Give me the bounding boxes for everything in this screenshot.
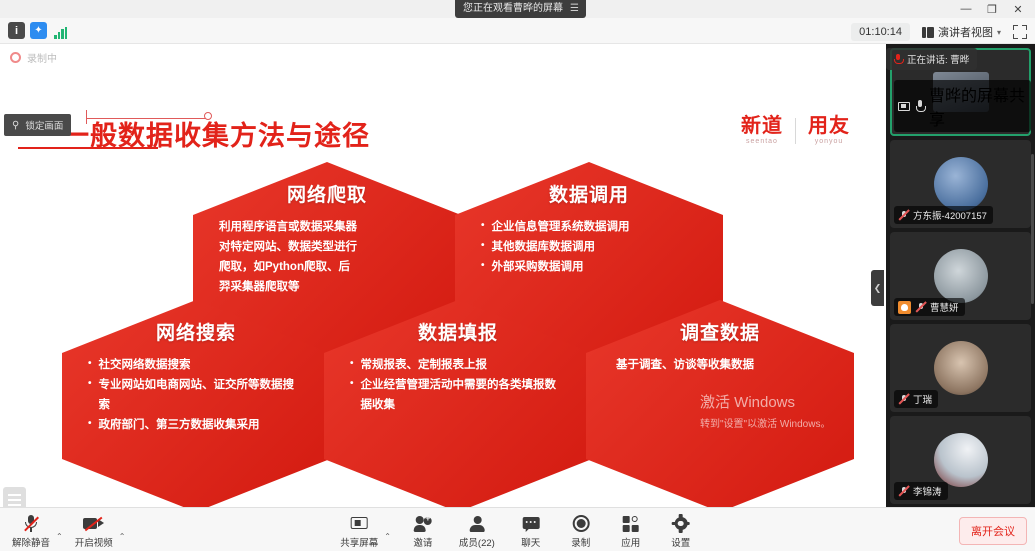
title-underline bbox=[18, 147, 158, 149]
hexagon-bullet: • 社交网络数据搜索 bbox=[88, 355, 304, 375]
brand-seentao-cn: 新道 bbox=[741, 116, 783, 137]
mic-muted-icon bbox=[898, 486, 909, 497]
meeting-timer: 01:10:14 bbox=[851, 23, 910, 41]
pin-icon: ⚲ bbox=[12, 120, 19, 131]
bullet-dot-icon: • bbox=[88, 415, 92, 433]
window-titlebar: 您正在观看曹晔的屏幕 ☰ — ❐ ✕ bbox=[0, 0, 1035, 18]
shield-icon[interactable]: ✦ bbox=[30, 22, 47, 39]
collapse-sidebar-button[interactable]: ❮ bbox=[871, 270, 884, 306]
participants-button[interactable]: 成员(22) bbox=[455, 512, 499, 551]
bullet-dot-icon: • bbox=[481, 257, 485, 275]
hexagon-bullet: • 政府部门、第三方数据收集采用 bbox=[88, 415, 304, 435]
mic-muted-icon bbox=[898, 394, 909, 405]
shared-screen-stage: 录制中 ⚲ 锁定画面 一般数据收集方法与途径 新道 seentao 用友 yon… bbox=[0, 44, 886, 507]
participants-label: 成员(22) bbox=[459, 535, 495, 549]
participant-name: 曹晔的屏幕共享 bbox=[929, 82, 1025, 130]
participant-name: 李锦涛 bbox=[913, 484, 942, 498]
bullet-text: 常规报表、定制报表上报 bbox=[361, 355, 566, 375]
record-icon bbox=[572, 514, 589, 533]
active-speaker-badge: 正在讲话: 曹晔 bbox=[886, 48, 977, 70]
tile-badge: 李锦涛 bbox=[894, 482, 948, 500]
hexagon-diagram: 网络爬取 利用程序语言或数据采集器 对特定网站、数据类型进行 爬取，如Pytho… bbox=[0, 152, 886, 507]
bullet-text: 专业网站如电商网站、证交所等数据搜索 bbox=[99, 375, 304, 415]
apps-icon bbox=[622, 514, 639, 533]
host-icon bbox=[898, 301, 911, 314]
toolbar-center-group: 共享屏幕 ⌃ 邀请 成员(22) 聊天 bbox=[336, 512, 699, 551]
brand-seentao-en: seentao bbox=[741, 138, 783, 145]
maximize-button[interactable]: ❐ bbox=[979, 0, 1005, 18]
view-mode-label: 演讲者视图 bbox=[938, 24, 993, 40]
avatar bbox=[934, 433, 988, 487]
bullet-dot-icon: • bbox=[481, 217, 485, 235]
bullet-dot-icon: • bbox=[481, 237, 485, 255]
viewing-screen-text: 您正在观看曹晔的屏幕 bbox=[463, 0, 563, 18]
apps-button[interactable]: 应用 bbox=[613, 512, 649, 551]
hexagon-bullet: • 其他数据库数据调用 bbox=[481, 237, 697, 257]
brand-yonyou: 用友 yonyou bbox=[808, 116, 850, 145]
screen-share-icon bbox=[898, 102, 910, 111]
participant-name: 丁瑞 bbox=[913, 392, 932, 406]
share-screen-button[interactable]: 共享屏幕 bbox=[336, 512, 382, 551]
fullscreen-icon[interactable] bbox=[1013, 25, 1027, 39]
video-button-label: 开启视频 bbox=[75, 535, 113, 549]
settings-button[interactable]: 设置 bbox=[663, 512, 699, 551]
hexagon-body: 利用程序语言或数据采集器 对特定网站、数据类型进行 爬取，如Python爬取、后… bbox=[193, 217, 461, 298]
bullet-dot-icon: • bbox=[88, 375, 92, 393]
close-button[interactable]: ✕ bbox=[1005, 0, 1031, 18]
info-icon[interactable]: i bbox=[8, 22, 25, 39]
bullet-text: 政府部门、第三方数据收集采用 bbox=[99, 415, 304, 435]
bullet-text: 企业经营管理活动中需要的各类填报数据收集 bbox=[361, 375, 566, 415]
hexagon-body: • 社交网络数据搜索 • 专业网站如电商网站、证交所等数据搜索 • 政府部门、第… bbox=[62, 355, 330, 436]
hexagon-title: 调查数据 bbox=[680, 318, 760, 345]
avatar bbox=[934, 157, 988, 211]
avatar bbox=[934, 249, 988, 303]
record-label: 录制 bbox=[571, 535, 590, 549]
hexagon-body: 基于调查、访谈等收集数据 bbox=[586, 355, 854, 375]
active-speaker-label: 正在讲话: 曹晔 bbox=[907, 52, 969, 66]
apps-label: 应用 bbox=[621, 535, 640, 549]
share-screen-label: 共享屏幕 bbox=[340, 535, 378, 549]
hexagon-bullet: • 外部采购数据调用 bbox=[481, 257, 697, 277]
bullet-dot-icon: • bbox=[88, 355, 92, 373]
bullet-text: 企业信息管理系统数据调用 bbox=[492, 217, 697, 237]
brand-seentao: 新道 seentao bbox=[741, 116, 783, 145]
mic-options-chevron-icon[interactable]: ⌃ bbox=[56, 532, 63, 541]
recording-label: 录制中 bbox=[27, 50, 57, 65]
lock-leader-line bbox=[86, 108, 87, 109]
participant-tile[interactable]: 曹慧妍 bbox=[890, 232, 1031, 320]
speaker-view-icon bbox=[922, 27, 934, 38]
hexagon-bullet: • 企业信息管理系统数据调用 bbox=[481, 217, 697, 237]
viewing-screen-banner: 您正在观看曹晔的屏幕 ☰ bbox=[455, 0, 586, 18]
hexagon-bullet: • 常规报表、定制报表上报 bbox=[350, 355, 566, 375]
microphone-icon bbox=[894, 54, 902, 65]
camera-muted-icon bbox=[83, 514, 104, 533]
brand-yonyou-cn: 用友 bbox=[808, 116, 850, 137]
record-button[interactable]: 录制 bbox=[563, 512, 599, 551]
hexagon-line: 羿采集器爬取等 bbox=[219, 277, 435, 297]
view-mode-selector[interactable]: 演讲者视图 ▾ bbox=[916, 21, 1007, 43]
microphone-icon bbox=[915, 100, 924, 112]
mute-button[interactable]: 解除静音 bbox=[8, 512, 54, 551]
leave-meeting-button[interactable]: 离开会议 bbox=[959, 517, 1027, 545]
chat-label: 聊天 bbox=[521, 535, 540, 549]
document-outline-icon[interactable] bbox=[3, 487, 26, 507]
mic-muted-icon bbox=[915, 302, 926, 313]
toolbar-left-group: 解除静音 ⌃ 开启视频 ⌃ bbox=[8, 512, 125, 551]
bullet-text: 其他数据库数据调用 bbox=[492, 237, 697, 257]
hexagon-line: 基于调查、访谈等收集数据 bbox=[616, 355, 824, 375]
invite-icon bbox=[414, 514, 432, 533]
hexagon-title: 网络搜索 bbox=[156, 318, 236, 345]
video-button[interactable]: 开启视频 bbox=[71, 512, 117, 551]
chat-icon bbox=[522, 514, 539, 533]
sidebar-scrollbar-thumb[interactable] bbox=[1031, 154, 1034, 304]
invite-label: 邀请 bbox=[413, 535, 432, 549]
record-dot-icon bbox=[10, 52, 21, 63]
bullet-dot-icon: • bbox=[350, 355, 354, 373]
meeting-toolbar: 解除静音 ⌃ 开启视频 ⌃ 共享屏幕 ⌃ bbox=[0, 507, 1035, 551]
hexagon-title: 数据填报 bbox=[418, 318, 498, 345]
avatar bbox=[934, 341, 988, 395]
brand-yonyou-en: yonyou bbox=[808, 138, 850, 145]
participant-tile[interactable]: 李锦涛 bbox=[890, 416, 1031, 504]
share-options-chevron-icon[interactable]: ⌃ bbox=[384, 532, 391, 541]
participant-name: 曹慧妍 bbox=[930, 300, 959, 314]
participants-sidebar: 正在讲话: 曹晔 曹晔的屏幕共享 方东振-42007157 bbox=[886, 44, 1035, 507]
banner-menu-icon[interactable]: ☰ bbox=[570, 0, 578, 18]
hexagon-bullet: • 企业经营管理活动中需要的各类填报数据收集 bbox=[350, 375, 566, 415]
chevron-down-icon: ▾ bbox=[997, 28, 1001, 37]
participant-tile[interactable]: 丁瑞 bbox=[890, 324, 1031, 412]
hexagon-title: 数据调用 bbox=[549, 180, 629, 207]
bullet-dot-icon: • bbox=[350, 375, 354, 393]
hexagon-line: 利用程序语言或数据采集器 bbox=[219, 217, 435, 237]
hexagon-line: 爬取，如Python爬取、后 bbox=[219, 257, 435, 277]
lock-screen-button[interactable]: ⚲ 锁定画面 bbox=[4, 114, 71, 136]
share-screen-icon bbox=[351, 514, 368, 533]
mute-button-label: 解除静音 bbox=[12, 535, 50, 549]
camera-options-chevron-icon[interactable]: ⌃ bbox=[119, 532, 126, 541]
tile-badge: 曹慧妍 bbox=[894, 298, 965, 316]
mic-muted-icon bbox=[23, 514, 39, 533]
tile-badge: 曹晔的屏幕共享 bbox=[894, 80, 1031, 132]
hexagon-line: 对特定网站、数据类型进行 bbox=[219, 237, 435, 257]
window-controls: — ❐ ✕ bbox=[953, 0, 1031, 18]
topbar-right-controls: 01:10:14 演讲者视图 ▾ bbox=[851, 21, 1027, 43]
bullet-text: 社交网络数据搜索 bbox=[99, 355, 304, 375]
tile-badge: 丁瑞 bbox=[894, 390, 938, 408]
hexagon-title: 网络爬取 bbox=[287, 180, 367, 207]
mic-muted-icon bbox=[898, 210, 909, 221]
settings-gear-icon bbox=[672, 514, 689, 533]
topbar-status-icons: i ✦ bbox=[8, 22, 69, 39]
recording-indicator: 录制中 bbox=[10, 50, 57, 65]
bullet-text: 外部采购数据调用 bbox=[492, 257, 697, 277]
hexagon-body: • 常规报表、定制报表上报 • 企业经营管理活动中需要的各类填报数据收集 bbox=[324, 355, 592, 415]
chat-button[interactable]: 聊天 bbox=[513, 512, 549, 551]
invite-button[interactable]: 邀请 bbox=[405, 512, 441, 551]
hexagon-bullet: • 专业网站如电商网站、证交所等数据搜索 bbox=[88, 375, 304, 415]
tile-badge: 方东振-42007157 bbox=[894, 206, 993, 224]
signal-strength-icon[interactable] bbox=[52, 22, 69, 39]
brand-logos: 新道 seentao 用友 yonyou bbox=[741, 116, 850, 145]
hexagon-body: • 企业信息管理系统数据调用 • 其他数据库数据调用 • 外部采购数据调用 bbox=[455, 217, 723, 277]
brand-divider bbox=[795, 118, 796, 144]
participant-name: 方东振-42007157 bbox=[913, 208, 987, 222]
minimize-button[interactable]: — bbox=[953, 0, 979, 18]
lock-screen-label: 锁定画面 bbox=[25, 118, 63, 132]
meeting-topbar: i ✦ 01:10:14 演讲者视图 ▾ bbox=[0, 18, 1035, 44]
meeting-window: 您正在观看曹晔的屏幕 ☰ — ❐ ✕ i ✦ 01:10:14 演讲者视图 ▾ bbox=[0, 0, 1035, 551]
settings-label: 设置 bbox=[671, 535, 690, 549]
participant-tile[interactable]: 方东振-42007157 bbox=[890, 140, 1031, 228]
participants-icon bbox=[469, 514, 484, 533]
